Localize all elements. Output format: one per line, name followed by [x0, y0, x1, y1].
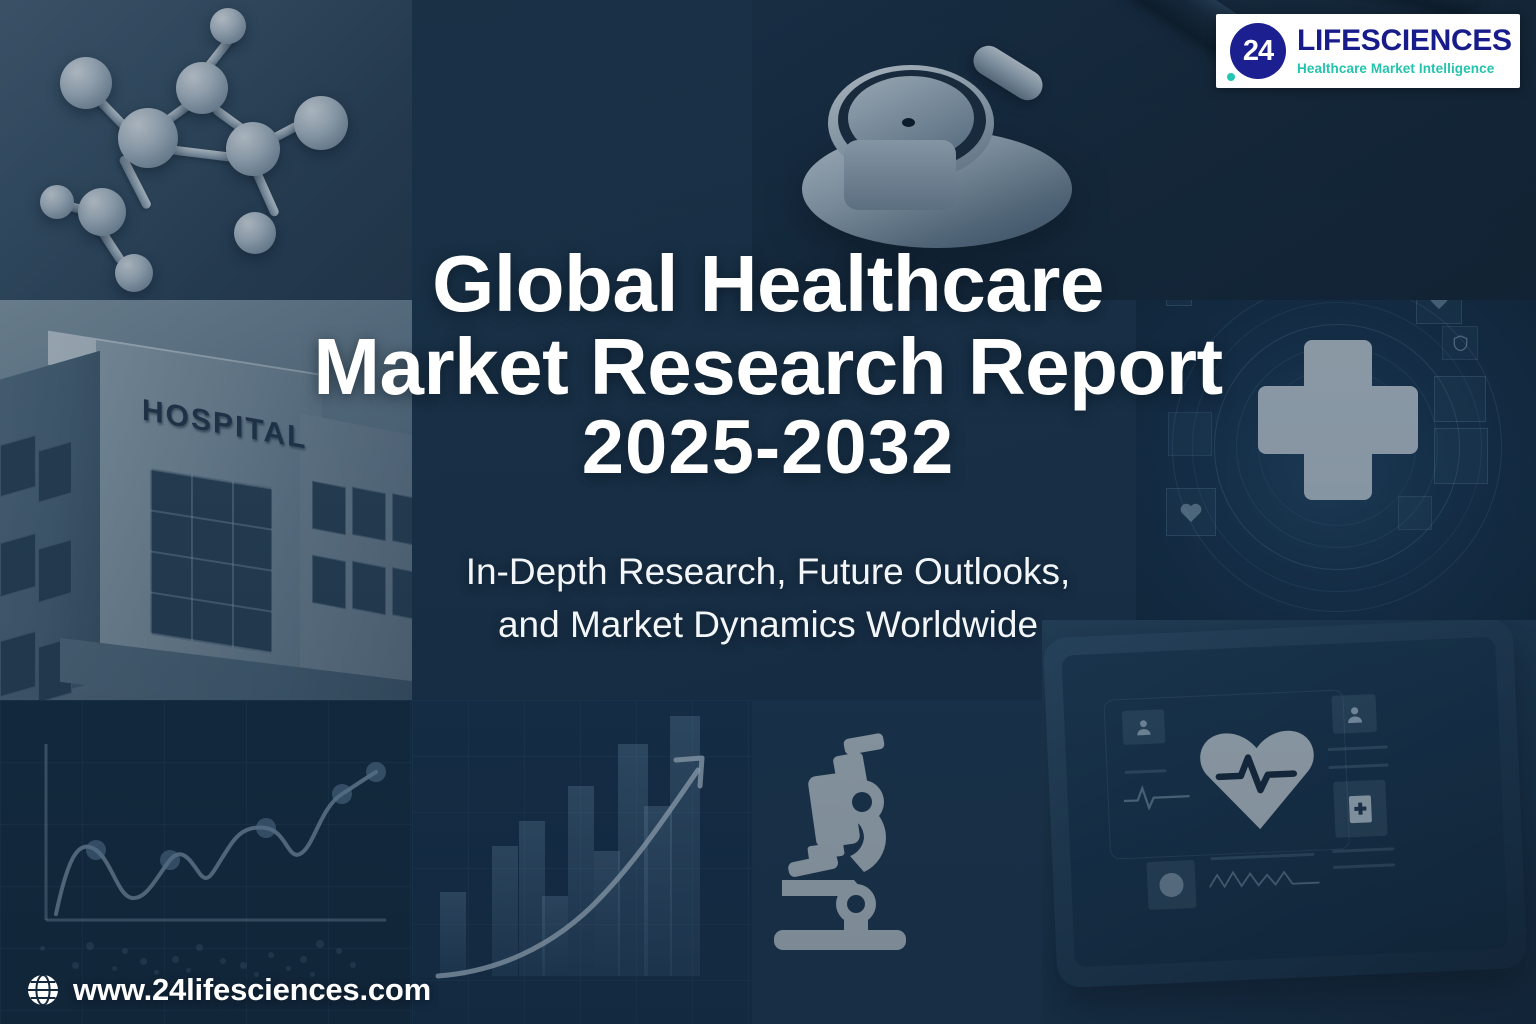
logo-badge-number: 24 [1243, 37, 1273, 66]
medical-dashboard-tablet [1042, 620, 1536, 1024]
headline-line-3: 2025-2032 [0, 408, 1536, 487]
heart-chip-icon [1166, 488, 1216, 536]
website-url-text: www.24lifesciences.com [73, 972, 431, 1008]
subtitle-line-1: In-Depth Research, Future Outlooks, [0, 546, 1536, 599]
growth-bar-chart [412, 700, 752, 1024]
logo-tagline: Healthcare Market Intelligence [1297, 61, 1512, 76]
page-subtitle: In-Depth Research, Future Outlooks, and … [0, 546, 1536, 651]
user-avatar-icon [1331, 694, 1377, 734]
medical-record-icon [1333, 780, 1387, 838]
subtitle-line-2: and Market Dynamics Worldwide [0, 599, 1536, 652]
headline-line-2: Market Research Report [0, 325, 1536, 408]
logo-badge: 24 [1230, 23, 1286, 79]
brand-logo[interactable]: 24 LIFESCIENCES Healthcare Market Intell… [1216, 14, 1520, 88]
headline-line-1: Global Healthcare [0, 242, 1536, 325]
user-avatar-icon [1122, 709, 1165, 745]
microscope-icon [752, 700, 1042, 1024]
website-link[interactable]: www.24lifesciences.com [26, 972, 431, 1008]
globe-icon [26, 973, 60, 1007]
page-title: Global Healthcare Market Research Report… [0, 242, 1536, 487]
status-dot-icon [1146, 860, 1196, 910]
logo-brand-name: LIFESCIENCES [1297, 26, 1512, 56]
report-cover-banner: HOSPITAL [0, 0, 1536, 1024]
logo-accent-dot [1227, 73, 1235, 81]
hud-chip-icon [1398, 496, 1432, 530]
